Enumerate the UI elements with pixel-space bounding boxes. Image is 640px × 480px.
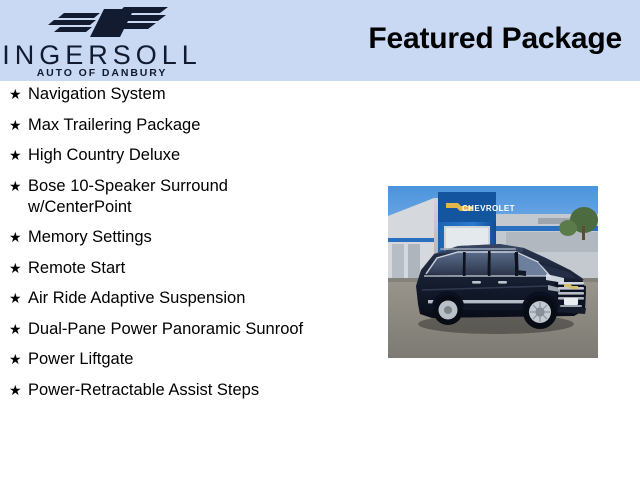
- wheel-front: [523, 295, 557, 329]
- star-bullet-icon: ★: [9, 258, 28, 279]
- list-item: ★ Dual-Pane Power Panoramic Sunroof: [0, 319, 380, 340]
- rear-door-window: [465, 251, 488, 276]
- list-item: ★ Power-Retractable Assist Steps: [0, 380, 380, 401]
- featured-package-list: ★ Navigation System ★ Max Trailering Pac…: [0, 84, 380, 410]
- star-bullet-icon: ★: [9, 380, 28, 401]
- list-item-label: Max Trailering Package: [28, 115, 380, 136]
- star-bullet-icon: ★: [9, 84, 28, 105]
- vehicle-photo: CHEVROLET: [388, 186, 598, 358]
- star-bullet-icon: ★: [9, 288, 28, 309]
- dealer-sign-text: CHEVROLET: [462, 204, 515, 213]
- list-item-label: Dual-Pane Power Panoramic Sunroof: [28, 319, 380, 340]
- star-bullet-icon: ★: [9, 145, 28, 166]
- star-bullet-icon: ★: [9, 349, 28, 370]
- front-door-window: [490, 251, 516, 276]
- list-item-label: Bose 10-Speaker Surround w/CenterPoint: [28, 176, 380, 218]
- list-item: ★ Air Ride Adaptive Suspension: [0, 288, 380, 309]
- list-item-label: High Country Deluxe: [28, 145, 380, 166]
- list-item: ★ Power Liftgate: [0, 349, 380, 370]
- list-item: ★ Remote Start: [0, 258, 380, 279]
- list-item: ★ Navigation System: [0, 84, 380, 105]
- star-bullet-icon: ★: [9, 176, 28, 197]
- star-bullet-icon: ★: [9, 319, 28, 340]
- list-item-label: Power-Retractable Assist Steps: [28, 380, 380, 401]
- list-item-label: Air Ride Adaptive Suspension: [28, 288, 380, 309]
- list-item-label: Power Liftgate: [28, 349, 380, 370]
- list-item-label: Remote Start: [28, 258, 380, 279]
- dealer-logo[interactable]: INGERSOLL AUTO OF DANBURY: [2, 2, 202, 80]
- list-item-label: Navigation System: [28, 84, 380, 105]
- star-bullet-icon: ★: [9, 115, 28, 136]
- logo-wordmark: INGERSOLL: [2, 42, 202, 69]
- license-plate: [564, 298, 578, 305]
- page-header: INGERSOLL AUTO OF DANBURY Featured Packa…: [0, 0, 640, 81]
- star-bullet-icon: ★: [9, 227, 28, 248]
- list-item: ★ Max Trailering Package: [0, 115, 380, 136]
- logo-tagline: AUTO OF DANBURY: [2, 68, 202, 79]
- list-item: ★ Bose 10-Speaker Surround w/CenterPoint: [0, 176, 380, 218]
- list-item-label: Memory Settings: [28, 227, 380, 248]
- page-title: Featured Package: [368, 22, 622, 56]
- list-item: ★ High Country Deluxe: [0, 145, 380, 166]
- ingersoll-winged-emblem-icon: [46, 5, 170, 41]
- list-item: ★ Memory Settings: [0, 227, 380, 248]
